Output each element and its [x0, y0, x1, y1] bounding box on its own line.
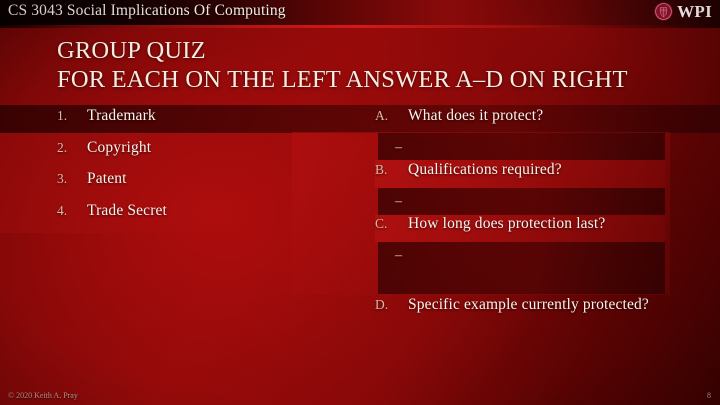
- list-item-label: Qualifications required?: [408, 161, 562, 179]
- list-item-label: How long does protection last?: [408, 215, 605, 233]
- wpi-wordmark: WPI: [677, 3, 712, 20]
- wpi-seal-icon: [654, 2, 673, 21]
- list-item-marker: C.: [375, 216, 408, 232]
- list-item: C. How long does protection last?: [375, 215, 670, 242]
- list-item-marker: B.: [375, 162, 408, 178]
- list-item: 3. Patent: [57, 170, 287, 202]
- list-item: 2. Copyright: [57, 139, 287, 171]
- page-title: GROUP QUIZ FOR EACH ON THE LEFT ANSWER A…: [57, 36, 677, 94]
- sub-bullet: –: [375, 242, 670, 269]
- list-item-label: Patent: [87, 170, 127, 188]
- list-item-marker: 2.: [57, 140, 87, 156]
- footer-page-number: 8: [707, 391, 711, 400]
- list-item-label: What does it protect?: [408, 107, 543, 125]
- right-list: A. What does it protect? – B. Qualificat…: [375, 107, 670, 315]
- page-title-line-1: GROUP QUIZ: [57, 36, 677, 65]
- list-item-marker: 1.: [57, 108, 87, 124]
- sub-bullet-dash: –: [395, 134, 402, 161]
- page-title-line-2: FOR EACH ON THE LEFT ANSWER A–D ON RIGHT: [57, 65, 677, 94]
- course-title: CS 3043 Social Implications Of Computing: [8, 2, 286, 20]
- list-item-label: Trade Secret: [87, 202, 167, 220]
- slide-root: CS 3043 Social Implications Of Computing…: [0, 0, 720, 405]
- list-item: D. Specific example currently protected?: [375, 294, 670, 315]
- list-item-label: Copyright: [87, 139, 151, 157]
- footer-copyright: © 2020 Keith A. Pray: [8, 391, 78, 400]
- list-item: B. Qualifications required?: [375, 161, 670, 188]
- wpi-logo: WPI: [654, 2, 712, 21]
- list-item: 1. Trademark: [57, 107, 287, 139]
- sub-bullet: –: [375, 188, 670, 215]
- list-item-marker: 4.: [57, 203, 87, 219]
- sub-bullet-dash: –: [395, 188, 402, 215]
- header-accent-rule: [0, 25, 720, 28]
- list-item-marker: A.: [375, 108, 408, 124]
- list-item: A. What does it protect?: [375, 107, 670, 134]
- list-item-marker: 3.: [57, 171, 87, 187]
- list-item-label: Specific example currently protected?: [408, 294, 649, 315]
- sub-bullet-dash: –: [395, 242, 402, 269]
- sub-bullet: –: [375, 134, 670, 161]
- list-item-marker: D.: [375, 297, 408, 313]
- list-item: 4. Trade Secret: [57, 202, 287, 234]
- list-item-label: Trademark: [87, 107, 156, 125]
- list-spacer: [375, 269, 670, 294]
- left-list: 1. Trademark 2. Copyright 3. Patent 4. T…: [57, 107, 287, 233]
